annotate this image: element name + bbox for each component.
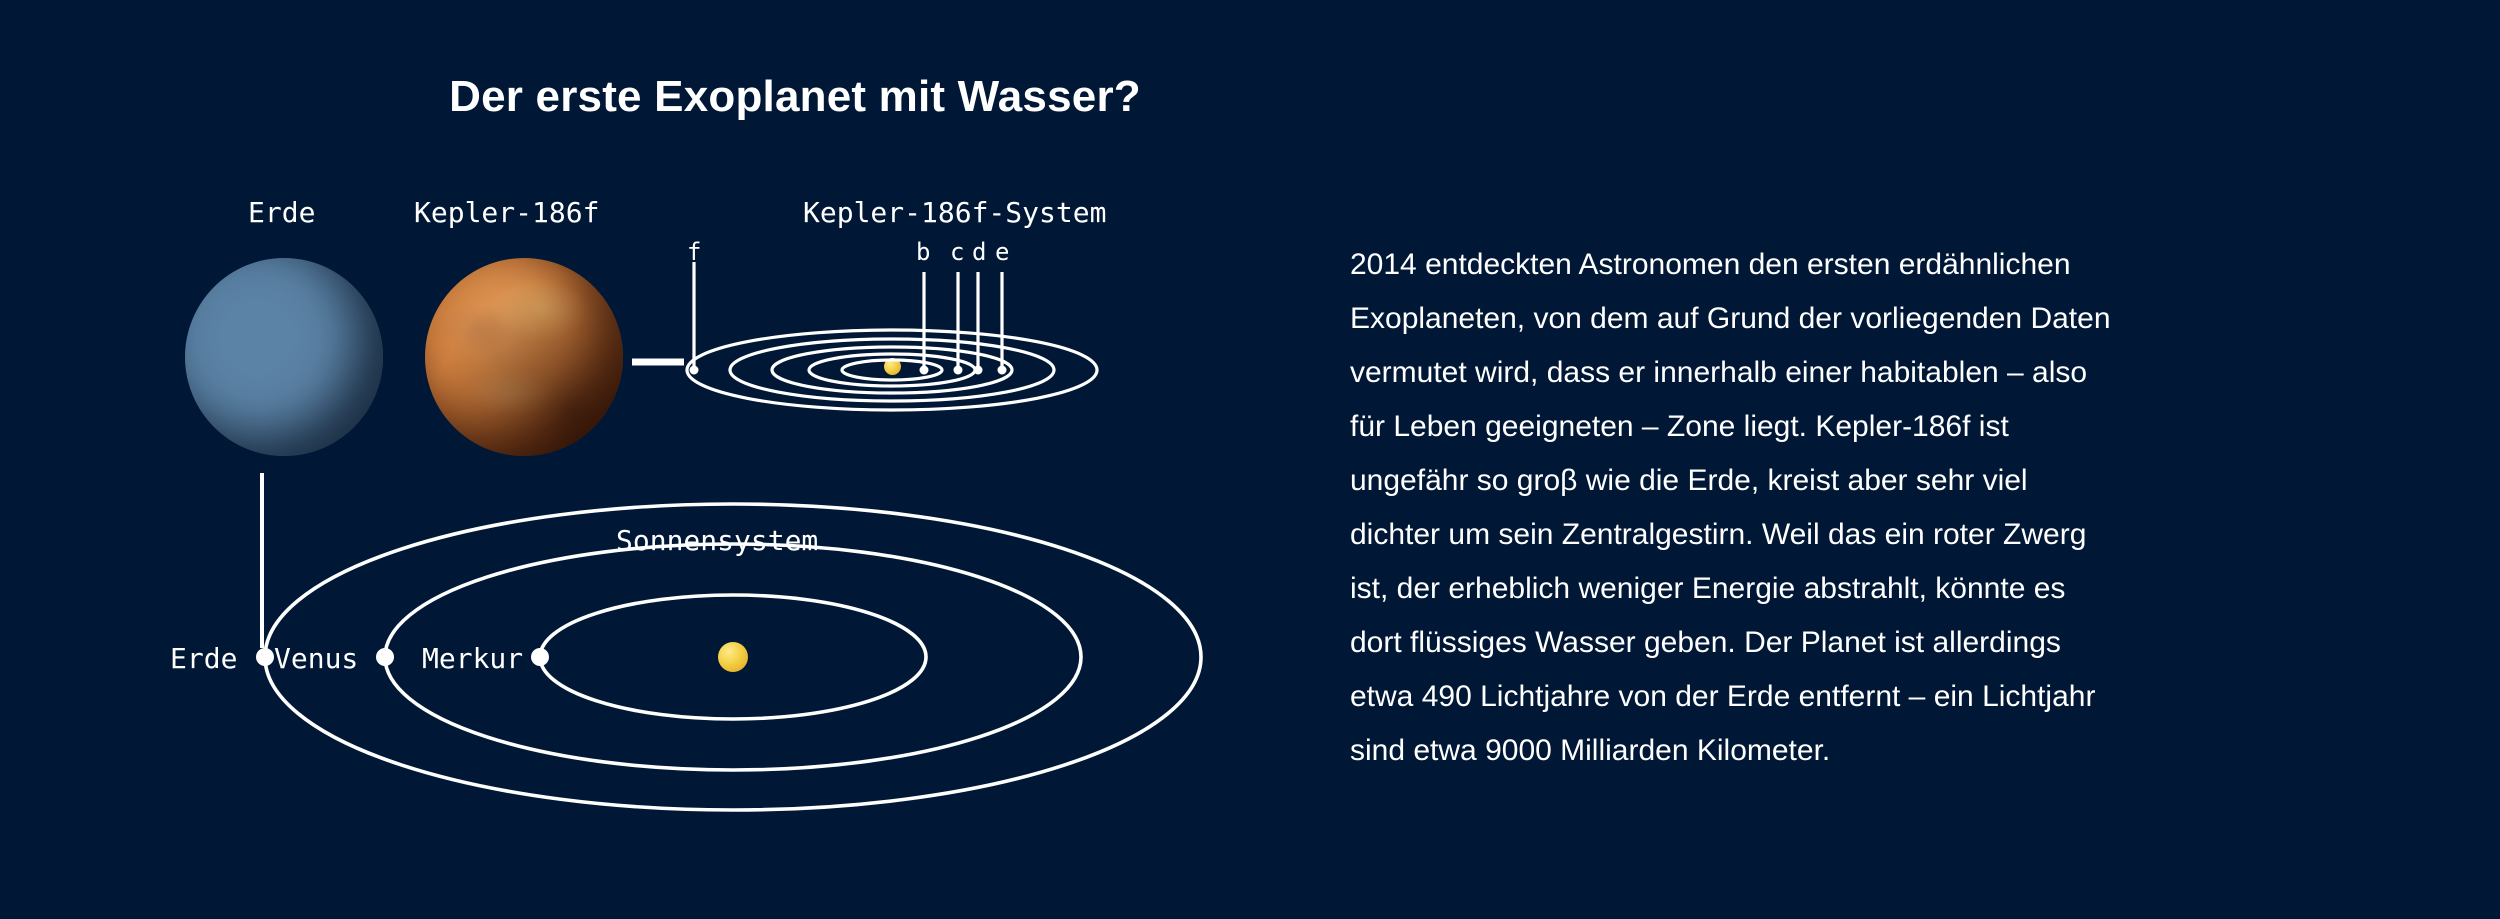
label-erde-planet: Erde bbox=[248, 196, 315, 229]
label-planet-venus: Venus bbox=[274, 642, 358, 675]
kepler-node-d bbox=[974, 366, 983, 375]
planet-dot-merkur bbox=[531, 648, 549, 666]
planet-dot-venus bbox=[376, 648, 394, 666]
planet-dot-erde bbox=[256, 648, 274, 666]
label-kepler-planet-d: d bbox=[972, 238, 986, 266]
label-planet-erde: Erde bbox=[170, 642, 237, 675]
article-line: vermutet wird, dass er innerhalb einer h… bbox=[1350, 346, 2410, 400]
kepler-orbit-nodes bbox=[690, 366, 1007, 375]
article-text: 2014 entdeckten Astronomen den ersten er… bbox=[1350, 238, 2410, 778]
kepler-node-c bbox=[954, 366, 963, 375]
label-kepler-planet-e: e bbox=[995, 238, 1009, 266]
label-sonnensystem: Sonnensystem bbox=[616, 524, 818, 557]
kepler-node-b bbox=[920, 366, 929, 375]
article-line: dort flüssiges Wasser geben. Der Planet … bbox=[1350, 616, 2410, 670]
article-line: dichter um sein Zentralgestirn. Weil das… bbox=[1350, 508, 2410, 562]
infographic-stage: Der erste Exoplanet mit Wasser? bbox=[0, 0, 2500, 919]
article-line: Exoplaneten, von dem auf Grund der vorli… bbox=[1350, 292, 2410, 346]
kepler-node-e bbox=[998, 366, 1007, 375]
kepler-node-f bbox=[690, 366, 699, 375]
label-kepler-planet-c: c bbox=[950, 238, 964, 266]
article-line: ungefähr so groβ wie die Erde, kreist ab… bbox=[1350, 454, 2410, 508]
solar-orbit-mercury bbox=[540, 595, 926, 719]
label-kepler-planet-b: b bbox=[916, 238, 930, 266]
label-kepler186f-planet: Kepler-186f bbox=[414, 196, 599, 229]
label-kepler-planet-f: f bbox=[687, 238, 701, 266]
article-line: sind etwa 9000 Milliarden Kilometer. bbox=[1350, 724, 2410, 778]
label-planet-merkur: Merkur bbox=[422, 642, 523, 675]
label-kepler186f-system: Kepler-186f-System bbox=[803, 196, 1106, 229]
kepler-orbit-f bbox=[687, 330, 1097, 410]
article-line: ist, der erheblich weniger Energie abstr… bbox=[1350, 562, 2410, 616]
article-line: für Leben geeigneten – Zone liegt. Keple… bbox=[1350, 400, 2410, 454]
article-line: etwa 490 Lichtjahre von der Erde entfern… bbox=[1350, 670, 2410, 724]
article-line: 2014 entdeckten Astronomen den ersten er… bbox=[1350, 238, 2410, 292]
